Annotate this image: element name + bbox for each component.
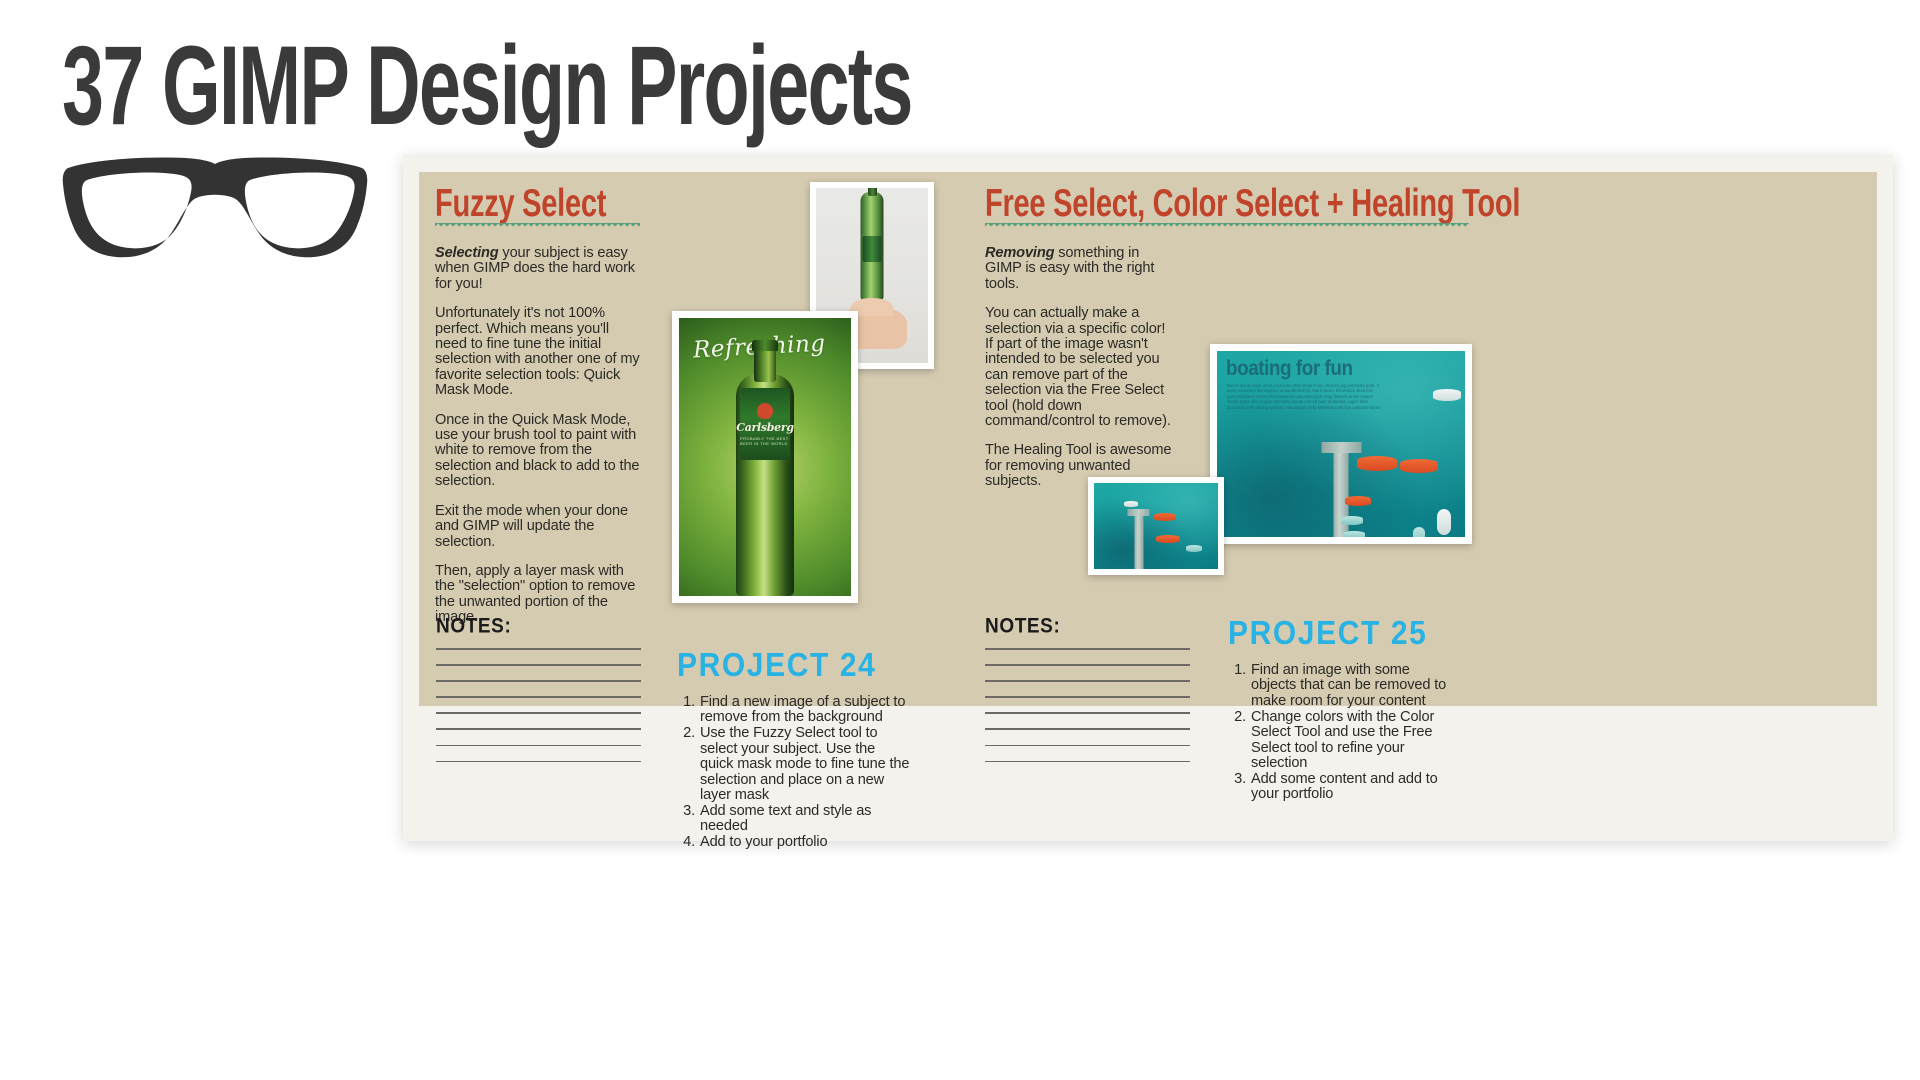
boat-teal-3: [1413, 527, 1425, 537]
notes-line[interactable]: [436, 745, 641, 747]
dock-head-small: [1128, 509, 1150, 516]
boat-white-2: [1437, 509, 1451, 535]
step-text: Find a new image of a subject to remove …: [700, 694, 905, 725]
bottle-neck-shape: [754, 348, 776, 382]
boating-detail-photo: [1088, 477, 1224, 575]
zigzag-divider-left: [435, 223, 640, 231]
boat-teal-1: [1341, 516, 1363, 525]
bottle-shape: [861, 192, 884, 300]
carlsberg-crest-icon: [757, 403, 773, 419]
paragraph: You can actually make a selection via a …: [985, 306, 1175, 429]
paragraph: Selecting your subject is easy when GIMP…: [435, 246, 643, 292]
carlsberg-label: Carlsberg PROBABLY THE BEST BEER IN THE …: [740, 388, 790, 460]
paragraph: Removing something in GIMP is easy with …: [985, 246, 1175, 292]
step-text: Find an image with some objects that can…: [1251, 662, 1446, 709]
boat-small-orange-2: [1156, 535, 1180, 543]
project-24-title: PROJECT 24: [677, 647, 876, 685]
boat-orange-3: [1345, 496, 1371, 506]
boat-small-orange-1: [1154, 513, 1176, 521]
notes-line[interactable]: [985, 712, 1190, 714]
step-text: Change colors with the Color Select Tool…: [1251, 709, 1434, 771]
notes-line[interactable]: [436, 696, 641, 698]
step-text: Add to your portfolio: [700, 834, 827, 850]
notes-line[interactable]: [436, 664, 641, 666]
beer-poster-inner: Refreshing Carlsberg PROBABLY THE BEST B…: [679, 318, 851, 596]
boat-small-white-1: [1124, 501, 1138, 507]
masthead: 37 GIMP Design Projects: [62, 30, 1098, 122]
notes-line[interactable]: [436, 712, 641, 714]
step-text: Use the Fuzzy Select tool to select your…: [700, 725, 909, 803]
body-text-left: Selecting your subject is easy when GIMP…: [435, 246, 643, 626]
step-text: Add some text and style as needed: [700, 803, 871, 834]
section-heading-free-select: Free Select, Color Select + Healing Tool: [985, 183, 1520, 222]
paragraph-lead: Removing: [985, 245, 1054, 261]
carlsberg-bottle-shape: Carlsberg PROBABLY THE BEST BEER IN THE …: [736, 374, 794, 596]
project-step: 2.Change colors with the Color Select To…: [1228, 710, 1453, 772]
body-text-right: Removing something in GIMP is easy with …: [985, 246, 1175, 490]
boat-white-1: [1433, 389, 1461, 401]
notes-line[interactable]: [985, 664, 1190, 666]
step-number: 3.: [1228, 772, 1246, 787]
notes-label-left: NOTES:: [436, 615, 511, 639]
step-number: 3.: [677, 804, 695, 819]
step-number: 4.: [677, 835, 695, 850]
notes-line[interactable]: [985, 728, 1190, 730]
carlsberg-brand-text: Carlsberg: [736, 421, 794, 434]
boating-body-text: Bacon ipsum dolor amet prosciutto strip …: [1227, 383, 1382, 410]
paragraph: Once in the Quick Mask Mode, use your br…: [435, 413, 643, 490]
step-number: 2.: [1228, 710, 1246, 725]
dock-head-shape: [1321, 442, 1361, 453]
boat-small-teal-1: [1186, 545, 1202, 552]
bottle-cap-shape: [752, 340, 778, 351]
notes-line[interactable]: [985, 761, 1190, 763]
notes-line[interactable]: [436, 761, 641, 763]
notes-line[interactable]: [985, 696, 1190, 698]
boating-small-inner: [1094, 483, 1218, 569]
project-step: 1.Find an image with some objects that c…: [1228, 663, 1453, 709]
boat-teal-2: [1343, 531, 1365, 537]
page-canvas: 37 GIMP Design Projects Fuzzy Select Fre…: [0, 0, 1920, 1080]
notes-lines-left[interactable]: [436, 648, 641, 777]
notes-lines-right[interactable]: [985, 648, 1190, 777]
project-24-steps: 1.Find a new image of a subject to remov…: [677, 695, 912, 851]
step-text: Add some content and add to your portfol…: [1251, 771, 1438, 802]
zigzag-divider-right: [985, 223, 1469, 231]
notes-line[interactable]: [985, 680, 1190, 682]
boat-orange-2: [1400, 459, 1438, 473]
paragraph: Exit the mode when your done and GIMP wi…: [435, 504, 643, 550]
project-25-steps: 1.Find an image with some objects that c…: [1228, 663, 1453, 803]
carlsberg-label-subtext: PROBABLY THE BEST BEER IN THE WORLD: [740, 436, 790, 446]
project-step: 1.Find a new image of a subject to remov…: [677, 695, 912, 726]
boating-title-text: boating for fun: [1226, 358, 1353, 379]
notes-line[interactable]: [436, 648, 641, 650]
boat-orange-1: [1357, 456, 1397, 471]
project-25-title: PROJECT 25: [1228, 615, 1427, 653]
dock-shape-small: [1134, 509, 1143, 569]
step-number: 1.: [1228, 663, 1246, 678]
project-step: 2.Use the Fuzzy Select tool to select yo…: [677, 726, 912, 803]
bottle-label-shape: [863, 236, 882, 262]
page-title: 37 GIMP Design Projects: [62, 30, 912, 142]
refreshing-beer-poster: Refreshing Carlsberg PROBABLY THE BEST B…: [672, 311, 858, 603]
step-number: 1.: [677, 695, 695, 710]
notes-line[interactable]: [436, 728, 641, 730]
step-number: 2.: [677, 726, 695, 741]
section-heading-fuzzy-select: Fuzzy Select: [435, 183, 606, 222]
notes-line[interactable]: [436, 680, 641, 682]
project-step: 4.Add to your portfolio: [677, 835, 912, 850]
project-step: 3.Add some content and add to your portf…: [1228, 772, 1453, 803]
paragraph-lead: Selecting: [435, 245, 499, 261]
notes-line[interactable]: [985, 745, 1190, 747]
project-step: 3.Add some text and style as needed: [677, 804, 912, 835]
sea-background-small: [1094, 483, 1218, 569]
notes-label-right: NOTES:: [985, 615, 1060, 639]
paragraph: Unfortunately it's not 100% perfect. Whi…: [435, 306, 643, 398]
boating-large-inner: boating for fun Bacon ipsum dolor amet p…: [1217, 351, 1465, 537]
boating-for-fun-layout: boating for fun Bacon ipsum dolor amet p…: [1210, 344, 1472, 544]
eyeglasses-icon: [60, 150, 370, 265]
notes-line[interactable]: [985, 648, 1190, 650]
